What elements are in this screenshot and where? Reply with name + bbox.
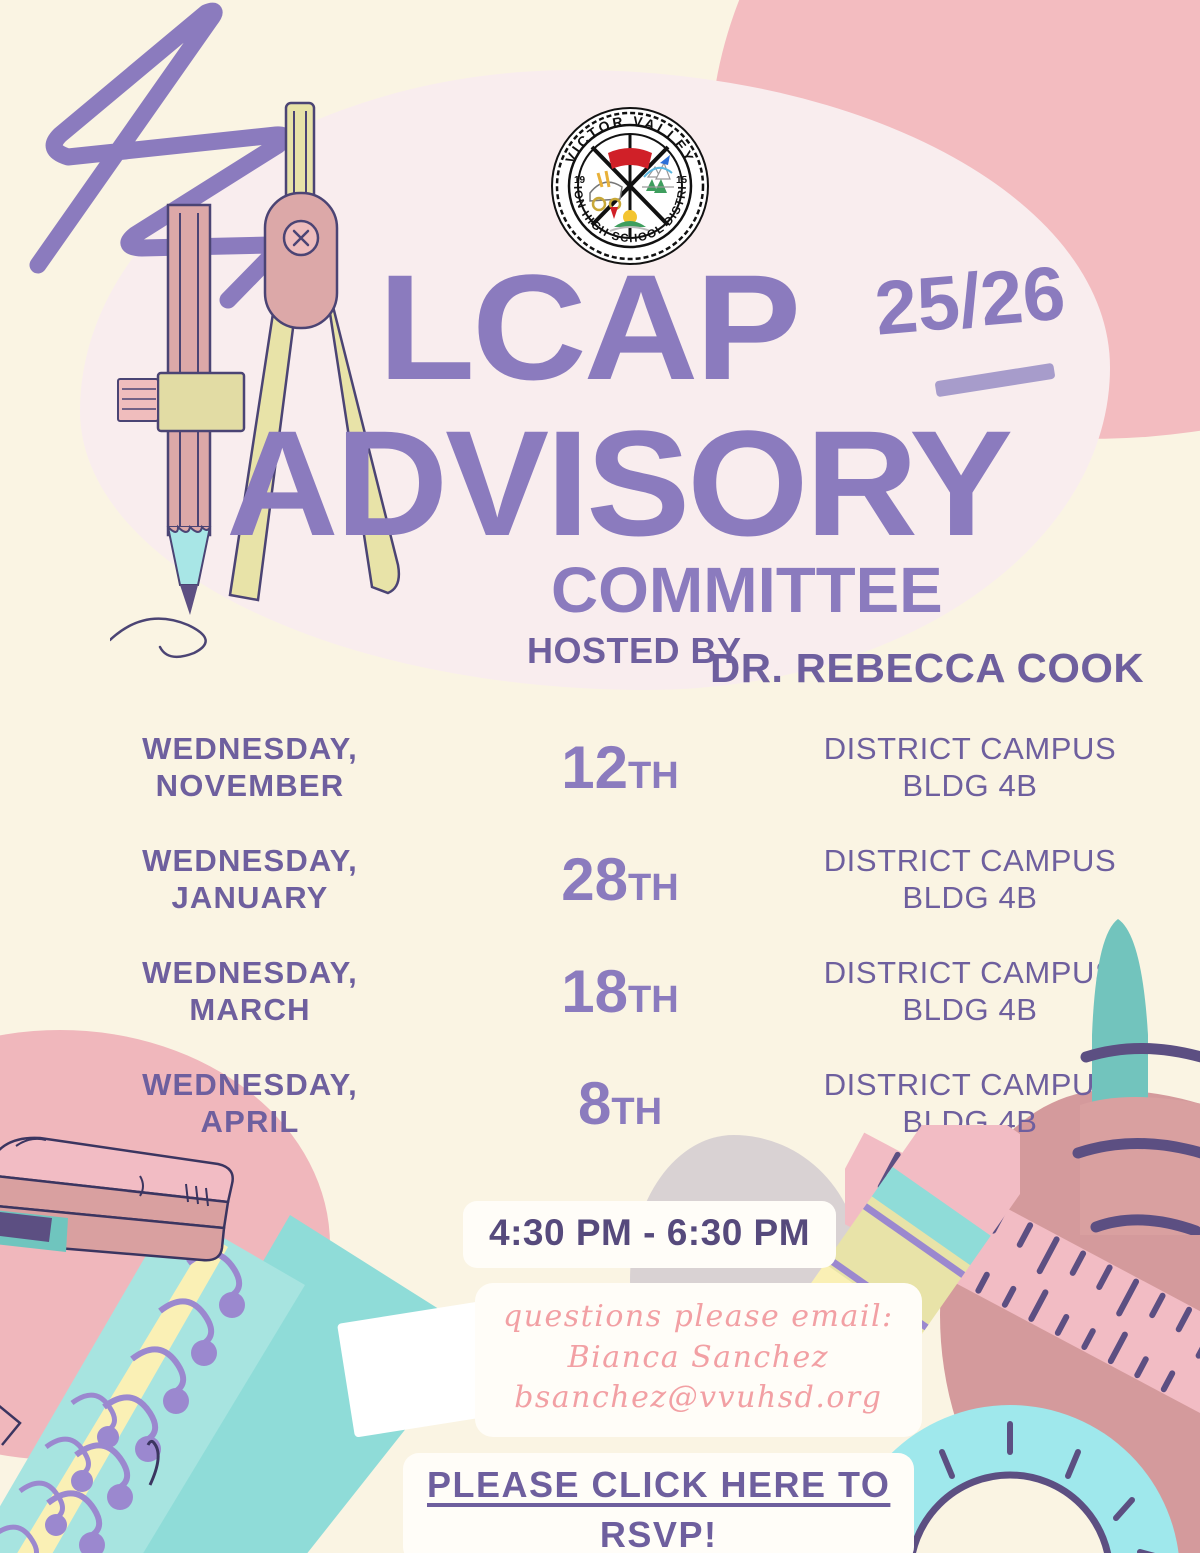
- schedule-row: WEDNESDAY, NOVEMBER 12TH DISTRICT CAMPUS…: [0, 712, 1200, 824]
- schedule-day: 8TH: [500, 1074, 740, 1134]
- schedule-day-number: 28: [561, 846, 628, 913]
- email-prompt: questions please email:: [503, 1297, 894, 1338]
- schedule-day-ordinal: TH: [628, 755, 679, 797]
- schedule-when: WEDNESDAY, MARCH: [0, 955, 500, 1028]
- rsvp-line-2[interactable]: RSVP!: [427, 1513, 890, 1553]
- schedule-when: WEDNESDAY, APRIL: [0, 1067, 500, 1140]
- flyer-poster: VICTOR VALLEY UNION HIGH SCHOOL DISTRICT…: [0, 0, 1200, 1553]
- schedule-day: 18TH: [500, 962, 740, 1022]
- schedule-day-number: 18: [561, 958, 628, 1025]
- schedule-day-number: 8: [578, 1070, 611, 1137]
- email-contact-name: Bianca Sanchez: [503, 1338, 894, 1379]
- compass-tool-icon: [110, 95, 440, 665]
- rsvp-link-badge[interactable]: PLEASE CLICK HERE TO RSVP!: [403, 1453, 914, 1553]
- logo-year-left: 19: [574, 175, 586, 186]
- email-badge: questions please email: Bianca Sanchez b…: [475, 1283, 922, 1437]
- schedule-when: WEDNESDAY, JANUARY: [0, 843, 500, 916]
- schedule-day: 28TH: [500, 850, 740, 910]
- schedule-day-ordinal: TH: [628, 867, 679, 909]
- logo-year-right: 15: [676, 175, 688, 186]
- schedule-day-number: 12: [561, 734, 628, 801]
- schedule-when: WEDNESDAY, NOVEMBER: [0, 731, 500, 804]
- time-badge: 4:30 PM - 6:30 PM: [463, 1201, 836, 1268]
- email-address[interactable]: bsanchez@vvuhsd.org: [503, 1378, 894, 1419]
- schedule-day: 12TH: [500, 738, 740, 798]
- district-seal-logo: VICTOR VALLEY UNION HIGH SCHOOL DISTRICT…: [548, 105, 713, 267]
- stapler-icon: [0, 1132, 270, 1312]
- rsvp-line-1[interactable]: PLEASE CLICK HERE TO: [427, 1463, 890, 1507]
- schedule-where: DISTRICT CAMPUS BLDG 4B: [740, 731, 1200, 804]
- time-text: 4:30 PM - 6:30 PM: [489, 1212, 810, 1253]
- schedule-day-ordinal: TH: [628, 979, 679, 1021]
- schedule-day-ordinal: TH: [611, 1091, 662, 1133]
